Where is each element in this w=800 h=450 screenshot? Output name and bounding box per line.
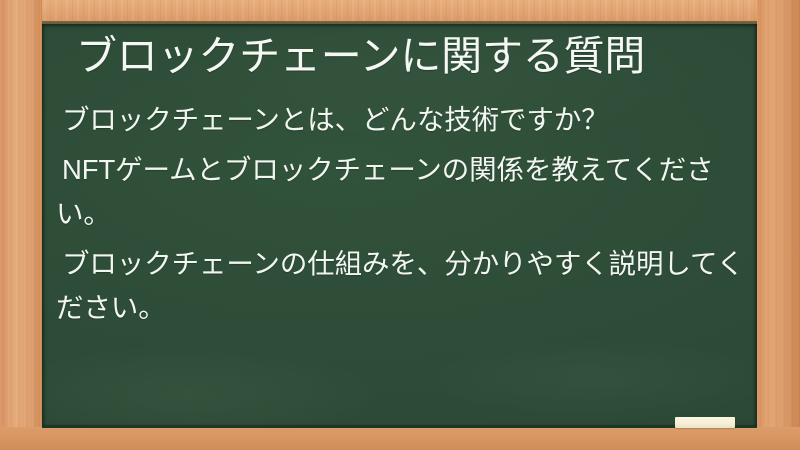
page-title: ブロックチェーンに関する質問 <box>76 28 736 84</box>
board-bottom-shadow <box>42 425 757 428</box>
frame-rail-bottom <box>0 427 800 450</box>
frame-rail-left <box>0 0 42 450</box>
frame-rail-right <box>757 0 800 450</box>
wooden-blackboard-frame: ブロックチェーンに関する質問 ブロックチェーンとは、どんな技術ですか？ NFTゲ… <box>0 0 800 450</box>
list-item: ブロックチェーンとは、どんな技術ですか？ <box>56 98 744 142</box>
green-chalkboard-surface: ブロックチェーンに関する質問 ブロックチェーンとは、どんな技術ですか？ NFTゲ… <box>42 24 757 428</box>
frame-rail-top <box>0 0 800 22</box>
chalk-stick <box>675 417 735 428</box>
question-list: ブロックチェーンとは、どんな技術ですか？ NFTゲームとブロックチェーンの関係を… <box>56 98 744 336</box>
list-item: ブロックチェーンの仕組みを、分かりやすく説明してください。 <box>56 242 744 330</box>
list-item: NFTゲームとブロックチェーンの関係を教えてください。 <box>56 148 744 236</box>
